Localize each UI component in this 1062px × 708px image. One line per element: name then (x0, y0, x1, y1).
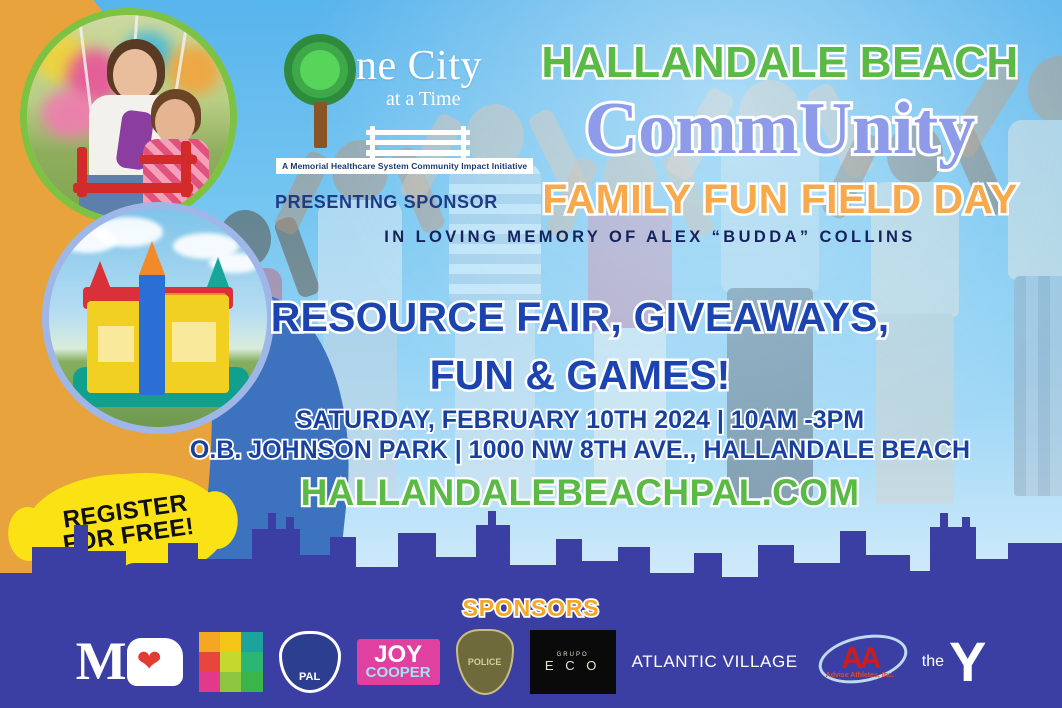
hb-grid-icon (199, 632, 263, 692)
sponsor-logo-pal[interactable]: PAL (279, 630, 341, 694)
presenting-sponsor-label: PRESENTING SPONSOR (275, 192, 498, 213)
sponsors-row: M ❤ PAL JOY COOPER POLICE (0, 620, 1062, 704)
sponsor-logo-memorial-healthcare[interactable]: M ❤ (76, 630, 183, 694)
sponsor-logo-advise-athletes[interactable]: AA Advise Athletes, Inc. (814, 630, 906, 694)
eco-bottom: E C O (545, 658, 600, 673)
joy-top: JOY (366, 644, 431, 666)
pal-badge-icon: PAL (279, 631, 341, 693)
headline-line-1: RESOURCE FAIR, GIVEAWAYS, (130, 294, 1030, 341)
sponsor-logo-hallandale-beach[interactable] (199, 630, 263, 694)
sponsor-logo-police[interactable]: POLICE (456, 630, 514, 694)
title-line-1: HALLANDALE BEACH (520, 38, 1040, 88)
one-city-title: ne City (356, 42, 482, 90)
sponsor-logo-atlantic-village[interactable]: ATLANTIC VILLAGE (632, 630, 798, 694)
one-city-logo: ne City at a Time A Memorial Healthcare … (278, 30, 510, 180)
atlantic-village-mark: ATLANTIC VILLAGE (632, 652, 798, 672)
police-mark: POLICE (468, 657, 502, 667)
title-line-2: CommUnity (520, 92, 1040, 166)
event-date-time: SATURDAY, FEBRUARY 10TH 2024 | 10AM -3PM (130, 406, 1030, 435)
ymca-y-icon: Y (949, 643, 986, 681)
memorial-m-mark: M (76, 640, 125, 683)
memorial-line: IN LOVING MEMORY OF ALEX “BUDDA” COLLINS (270, 228, 1030, 247)
title-line-3: FAMILY FUN FIELD DAY (520, 176, 1040, 223)
event-location: O.B. JOHNSON PARK | 1000 NW 8TH AVE., HA… (110, 436, 1050, 465)
sponsor-logo-ymca[interactable]: the Y (922, 630, 987, 694)
headline-line-2: FUN & GAMES! (130, 352, 1030, 399)
sponsor-logo-joy-cooper[interactable]: JOY COOPER (357, 630, 440, 694)
event-flyer: ne City at a Time A Memorial Healthcare … (0, 0, 1062, 708)
aa-top: AA (841, 645, 878, 672)
pal-mark: PAL (299, 671, 320, 683)
one-city-subtitle: at a Time (386, 88, 460, 111)
aa-bottom: Advise Athletes, Inc. (826, 672, 894, 679)
police-badge-icon: POLICE (456, 629, 514, 695)
sponsors-heading: SPONSORS (0, 595, 1062, 622)
ymca-the: the (922, 653, 944, 671)
sponsor-logo-grupo-eco[interactable]: GRUPO E C O (530, 630, 616, 694)
memorial-healthcare-banner: A Memorial Healthcare System Community I… (276, 158, 533, 174)
heart-hand-icon: ❤ (127, 638, 183, 686)
photo-mother-daughter-swing (20, 8, 237, 225)
joy-bottom: COOPER (366, 665, 431, 680)
